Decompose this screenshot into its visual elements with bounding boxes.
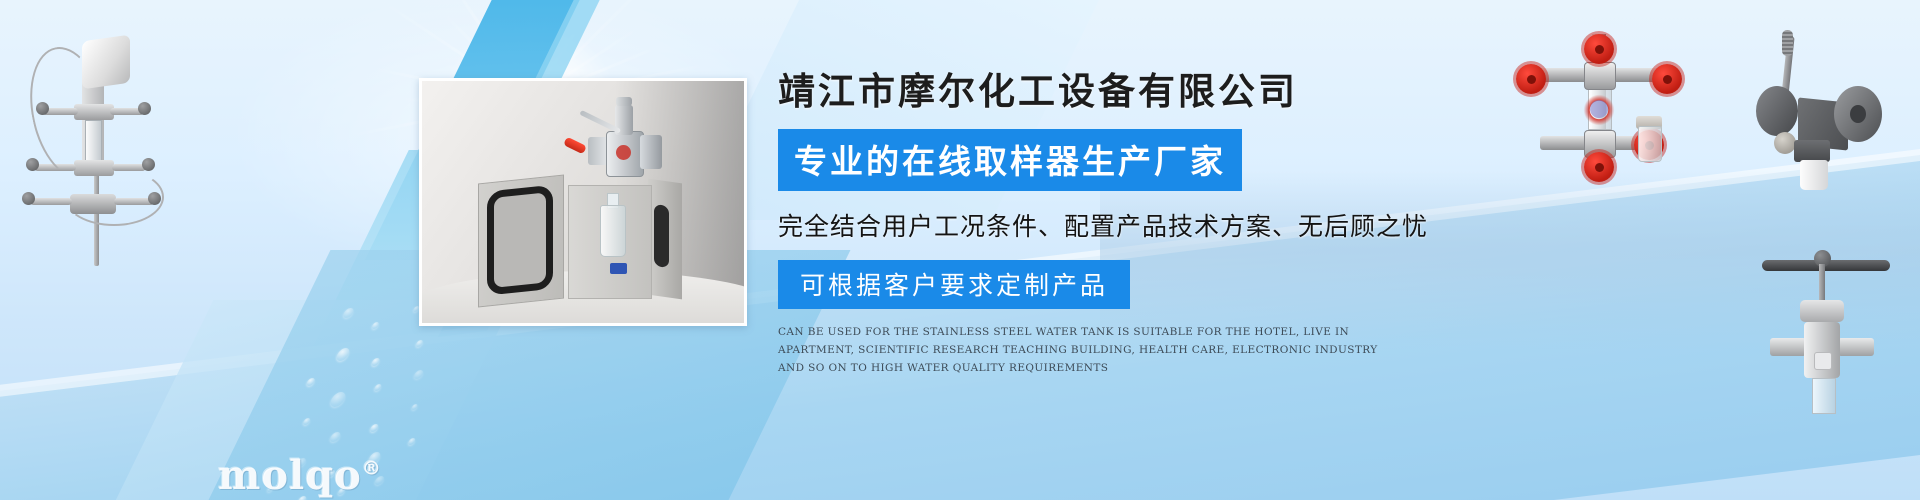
- water-droplet: [305, 378, 316, 386]
- handwheel-bottom: [1584, 152, 1614, 182]
- product-tube-lower: [64, 168, 164, 226]
- lever-flange-left: [1756, 86, 1798, 136]
- product-knob-5: [22, 192, 35, 205]
- water-droplet: [411, 404, 419, 410]
- photo-sample-bottle: [600, 205, 626, 257]
- photo-valve-flange-left: [588, 137, 608, 165]
- lever-bottle: [1800, 160, 1828, 190]
- product-knob-3: [26, 158, 39, 171]
- registered-mark-icon: ®: [362, 458, 382, 480]
- lever-neck: [1794, 140, 1830, 162]
- water-droplet: [302, 418, 311, 425]
- photo-sampling-valve: [582, 103, 668, 189]
- banner-copy: 靖江市摩尔化工设备有限公司 专业的在线取样器生产厂家 完全结合用户工况条件、配置…: [778, 70, 1418, 377]
- lever-dial: [1774, 132, 1796, 154]
- water-droplet: [328, 432, 342, 442]
- handwheel-right: [1652, 64, 1682, 94]
- cross-emblem-core: [1590, 100, 1608, 118]
- wheel-bonnet: [1800, 300, 1844, 322]
- photo-cabinet-door: [478, 174, 564, 307]
- headline-badge: 专业的在线取样器生产厂家: [778, 129, 1242, 191]
- water-droplet: [370, 358, 381, 366]
- photo-valve-flange-right: [640, 135, 662, 169]
- photo-valve-badge: [616, 145, 631, 160]
- center-product-photo: [419, 78, 747, 326]
- photo-cabinet-handle: [654, 204, 669, 268]
- water-droplet: [407, 438, 416, 445]
- wheel-flange-right: [1838, 338, 1874, 356]
- lever-flange-right: [1834, 86, 1882, 142]
- brand-watermark: molqo®: [218, 452, 382, 499]
- product-knob-4: [142, 158, 155, 171]
- company-name: 靖江市摩尔化工设备有限公司: [778, 70, 1418, 113]
- water-droplet: [373, 384, 382, 391]
- cross-valve-assembly-image: [1500, 30, 1700, 170]
- wheel-sample-glass: [1812, 378, 1836, 414]
- cross-sample-bottle: [1638, 126, 1662, 162]
- english-description: CAN BE USED FOR THE STAINLESS STEEL WATE…: [778, 323, 1378, 377]
- photo-lever-red-grip: [563, 137, 587, 155]
- left-product-image: [8, 18, 178, 268]
- promotional-banner: 靖江市摩尔化工设备有限公司 专业的在线取样器生产厂家 完全结合用户工况条件、配置…: [0, 0, 1920, 500]
- water-droplet: [412, 370, 424, 379]
- water-droplet: [415, 340, 424, 347]
- water-droplet: [335, 348, 352, 361]
- photo-blue-cap: [610, 263, 627, 274]
- wheel-nameplate: [1814, 352, 1832, 370]
- handwheel-left: [1516, 64, 1546, 94]
- product-knob-2: [138, 102, 151, 115]
- wheel-flange-left: [1770, 338, 1806, 356]
- watermark-text: molqo: [218, 452, 362, 499]
- wheel-valve-image: [1756, 238, 1906, 408]
- lever-grip: [1782, 30, 1793, 56]
- handwheel-top: [1584, 34, 1614, 64]
- photo-door-window: [487, 185, 553, 296]
- cross-hub-upper: [1584, 62, 1616, 90]
- water-droplet: [369, 424, 380, 432]
- lever-valve-image: [1742, 22, 1912, 222]
- water-droplet: [371, 322, 380, 329]
- sub-headline: 完全结合用户工况条件、配置产品技术方案、无后顾之忧: [778, 207, 1418, 243]
- photo-valve-knob: [616, 97, 632, 106]
- water-droplet: [342, 308, 356, 318]
- water-droplet: [328, 392, 348, 407]
- tagline-badge: 可根据客户要求定制产品: [778, 260, 1130, 309]
